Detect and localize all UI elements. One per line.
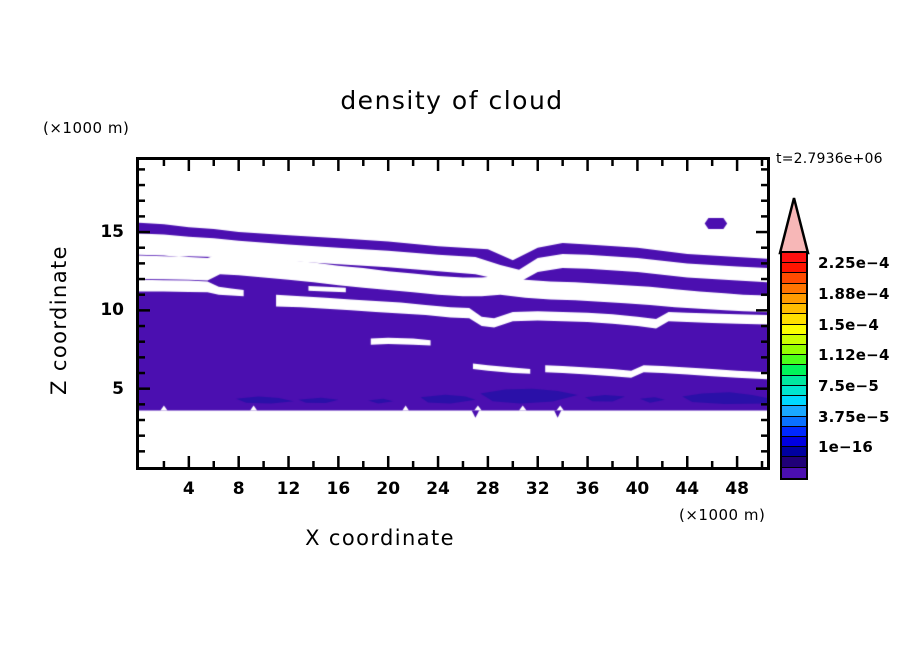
y-tick-label-group: 51015 xyxy=(0,0,904,654)
y-tick-label: 5 xyxy=(84,379,124,399)
colorbar-tick-label: 1.5e−4 xyxy=(818,316,879,334)
colorbar-tick-label: 1.12e−4 xyxy=(818,346,890,364)
y-axis-title: Z coordinate xyxy=(47,225,71,415)
colorbar-tick-label: 1.88e−4 xyxy=(818,285,890,303)
figure-root: density of cloud (×1000 m) t=2.7936e+06 … xyxy=(0,0,904,654)
colorbar-tick-label: 3.75e−5 xyxy=(818,408,890,426)
y-tick-label: 10 xyxy=(84,300,124,320)
colorbar-label-group: 2.25e−41.88e−41.5e−41.12e−47.5e−53.75e−5… xyxy=(776,196,904,486)
x-axis-title: X coordinate xyxy=(0,526,760,550)
colorbar-tick-label: 7.5e−5 xyxy=(818,377,879,395)
colorbar-tick-label: 2.25e−4 xyxy=(818,254,890,272)
colorbar-tick-label: 1e−16 xyxy=(818,438,873,456)
x-axis-unit-label: (×1000 m) xyxy=(679,506,765,524)
colorbar: 2.25e−41.88e−41.5e−41.12e−47.5e−53.75e−5… xyxy=(776,196,904,486)
y-tick-label: 15 xyxy=(84,222,124,242)
